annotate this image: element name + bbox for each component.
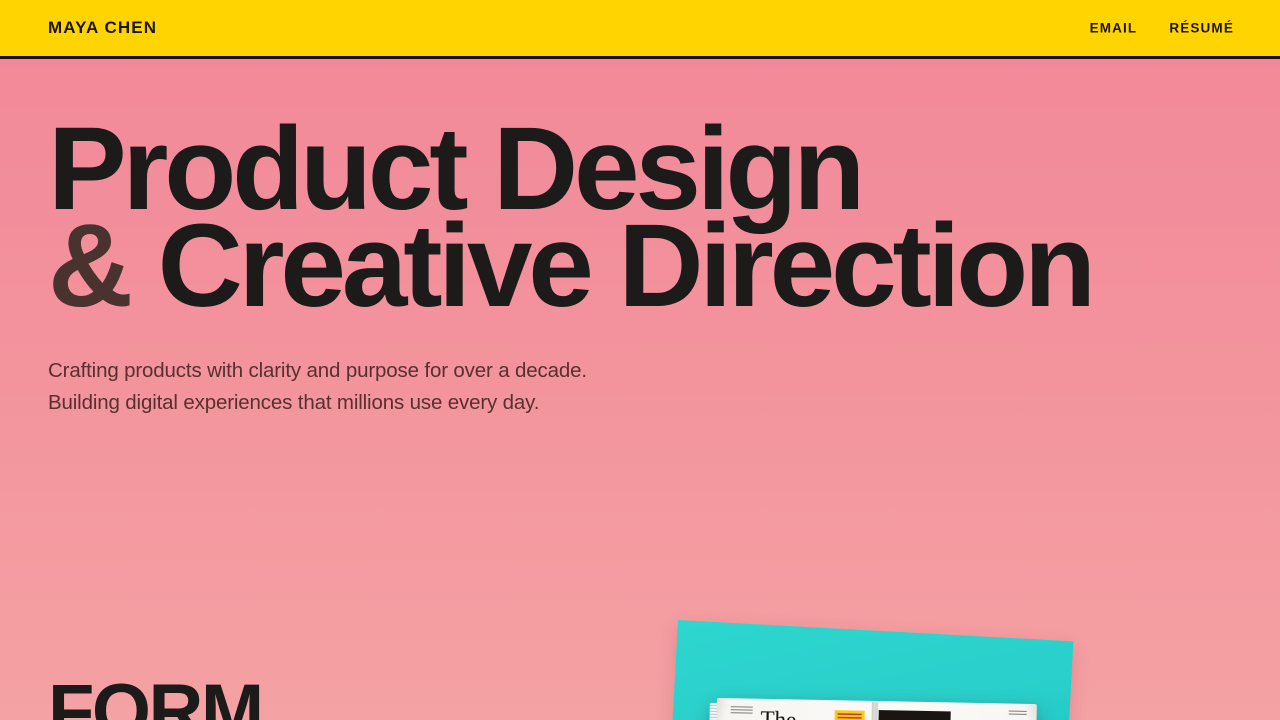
headline-line-2: & Creative Direction [48,218,1092,315]
magazine-title-the: The [760,708,796,720]
primary-nav: EMAIL RÉSUMÉ [1090,21,1234,36]
brand-name[interactable]: MAYA CHEN [48,18,157,38]
ampersand-glyph: & [48,200,129,332]
site-header: MAYA CHEN EMAIL RÉSUMÉ [0,0,1280,59]
nav-link-resume[interactable]: RÉSUMÉ [1169,21,1234,36]
hero-subtitle-line-1: Crafting products with clarity and purpo… [48,359,587,382]
hero-subtitle: Crafting products with clarity and purpo… [48,355,587,420]
sidebar-headline-lines [838,713,862,720]
black-illustration-panel [877,710,951,720]
portfolio-landing-page: MAYA CHEN EMAIL RÉSUMÉ Product Design & … [0,0,1280,720]
page-title: Product Design & Creative Direction [48,121,1092,316]
nav-link-email[interactable]: EMAIL [1090,21,1138,36]
magazine-right-page [873,701,1037,720]
headline-line-2-rest: Creative Direction [129,200,1092,332]
magazine-photo: The ZIN [660,604,1100,720]
hero-subtitle-line-2: Building digital experiences that millio… [48,391,539,414]
yellow-sidebar-column [833,710,865,720]
magazine-left-page: The ZIN [715,698,875,720]
left-page-kicker [731,706,753,713]
page-folio [1009,711,1027,716]
section-heading-form: FORM [48,674,262,720]
magazine-spine [870,702,878,720]
hero-section: Product Design & Creative Direction Craf… [0,59,1280,720]
